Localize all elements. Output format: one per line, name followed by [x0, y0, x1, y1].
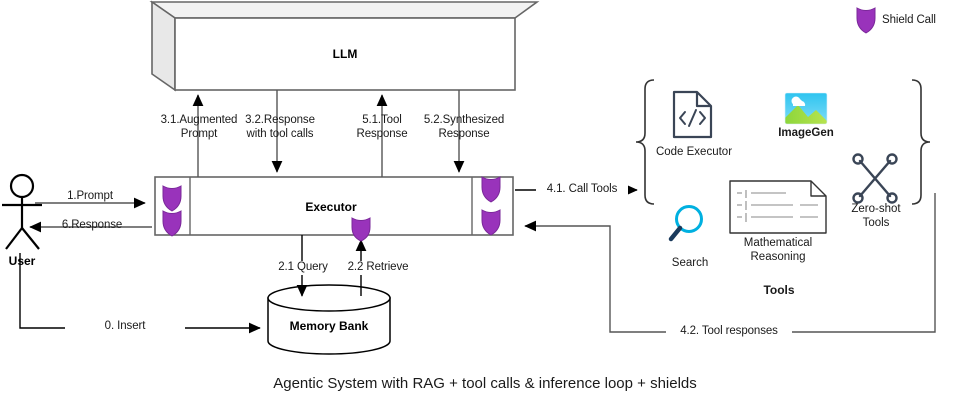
shield-icon-executor-memory: [352, 218, 370, 241]
flow-41-label: 4.1. Call Tools: [536, 183, 628, 197]
tools-right-brace: [912, 80, 930, 204]
formula-document-icon[interactable]: [730, 181, 826, 233]
tool-label-mathematical-reasoning: Mathematical Reasoning: [725, 236, 831, 264]
image-icon[interactable]: [785, 93, 827, 124]
shield-icon-legend: [857, 8, 875, 33]
crossed-wrenches-icon[interactable]: [854, 155, 897, 203]
user-actor[interactable]: [2, 175, 42, 249]
tool-label-search: Search: [659, 256, 721, 270]
tools-group-label: Tools: [744, 283, 814, 297]
llm-label: LLM: [175, 47, 515, 61]
user-label: User: [0, 254, 44, 268]
flow-21-label: 2.1 Query: [264, 261, 342, 275]
flow-1-prompt-label: 1.Prompt: [40, 190, 140, 204]
tool-label-image-gen: ImageGen: [768, 126, 844, 140]
llm-node[interactable]: [152, 2, 537, 90]
tool-label-zero-shot-tools: Zero-shot Tools: [840, 202, 912, 230]
flow-0-insert-label: 0. Insert: [65, 320, 185, 334]
tool-label-code-executor: Code Executor: [642, 145, 746, 159]
flow-6-response-label: 6.Response: [40, 219, 144, 233]
flow-42-label: 4.2. Tool responses: [666, 325, 792, 339]
flow-32-label: 3.2.Response with tool calls: [234, 114, 326, 141]
flow-0-insert-arrow: [20, 253, 260, 328]
diagram-vector-layer: [0, 0, 970, 411]
diagram-canvas: LLM Executor Memory Bank User 1.Prompt 6…: [0, 0, 970, 411]
flow-52-label: 5.2.Synthesized Response: [409, 114, 519, 141]
code-file-icon[interactable]: [674, 92, 711, 137]
magnifier-icon[interactable]: [671, 207, 702, 240]
flow-22-label: 2.2 Retrieve: [332, 261, 424, 275]
legend-label: Shield Call: [882, 14, 970, 28]
diagram-caption: Agentic System with RAG + tool calls & i…: [0, 375, 970, 392]
tools-left-brace: [636, 80, 654, 204]
memory-bank-label: Memory Bank: [268, 319, 390, 333]
executor-label: Executor: [190, 200, 472, 214]
